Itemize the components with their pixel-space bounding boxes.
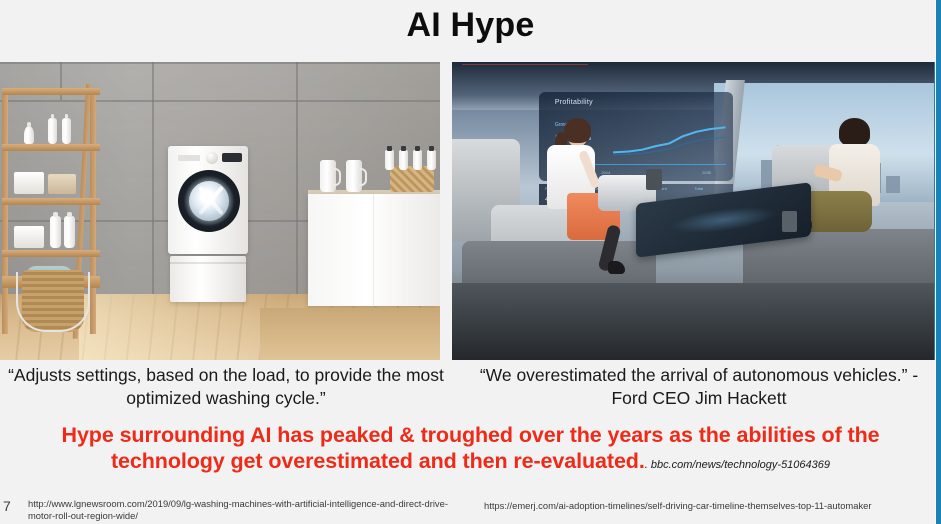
washer-dial [206, 152, 218, 164]
washer-drum-glass [189, 181, 229, 221]
right-image-caption: “We overestimated the arrival of autonom… [460, 364, 938, 410]
detergent-bottle [64, 216, 75, 248]
window-scrollbar[interactable] [936, 0, 941, 524]
autonomous-car-image: Profitability Growth 23 % 2014 2024 2030… [452, 62, 937, 360]
left-image-caption: “Adjusts settings, based on the load, to… [0, 364, 452, 410]
washing-machine-image [0, 62, 440, 360]
shelf-board [2, 88, 100, 95]
left-source-url[interactable]: http://www.lgnewsroom.com/2019/09/lg-was… [28, 498, 458, 522]
grout-line [0, 62, 440, 64]
emphasis-citation: . bbc.com/news/technology-51064369 [645, 459, 830, 471]
right-source-url[interactable]: https://emerj.com/ai-adoption-timelines/… [484, 500, 934, 512]
small-bottle [385, 150, 394, 170]
emphasis-statement: Hype surrounding AI has peaked & troughe… [8, 422, 933, 478]
shelf-bottle [62, 118, 71, 144]
small-bottle [427, 150, 436, 170]
shelf-board [2, 198, 100, 205]
grout-line [152, 62, 154, 294]
roof-light-strip [462, 64, 588, 65]
person-right-hair [839, 118, 869, 146]
ai-dd-x-glow-icon [189, 181, 229, 221]
grout-line [296, 62, 298, 294]
shelf-post [90, 88, 96, 334]
detergent-jug [320, 160, 336, 192]
slide-canvas: AI Hype [0, 0, 941, 524]
washer-body [168, 146, 248, 254]
folded-towels [48, 174, 76, 194]
shelf-post [2, 88, 8, 334]
washer-pedestal-drawer [170, 256, 246, 302]
shelf-board [2, 250, 100, 257]
lg-washing-machine [168, 146, 248, 304]
washer-logo [178, 155, 200, 161]
shelf-board [2, 144, 100, 151]
console-cup [646, 169, 662, 190]
wooden-shelf-unit [2, 88, 100, 334]
detergent-bottle [50, 216, 61, 248]
small-bottle [399, 150, 408, 170]
basket-handle [16, 272, 90, 332]
page-title: AI Hype [0, 2, 941, 48]
washer-control-panel [172, 151, 244, 165]
shelf-jar [24, 126, 34, 144]
table-ui-glow [671, 203, 776, 237]
hud-title: Profitability [555, 99, 593, 106]
washer-door [178, 170, 240, 232]
white-cabinet [308, 194, 440, 306]
washer-display [222, 153, 242, 162]
folded-towels [14, 172, 44, 194]
shelf-bottle [48, 118, 57, 144]
small-bottle [413, 150, 422, 170]
detergent-jug [346, 160, 362, 192]
person-left-shoe [608, 261, 626, 274]
page-number: 7 [3, 498, 11, 514]
wicker-storage-basket [390, 166, 434, 192]
table-cup [782, 211, 798, 232]
hud-metric-label: Total [694, 186, 702, 191]
folded-towels [14, 226, 44, 248]
person-left-hair [564, 118, 592, 143]
hud-tick: 2030 [702, 170, 711, 175]
floor-step [260, 308, 440, 360]
